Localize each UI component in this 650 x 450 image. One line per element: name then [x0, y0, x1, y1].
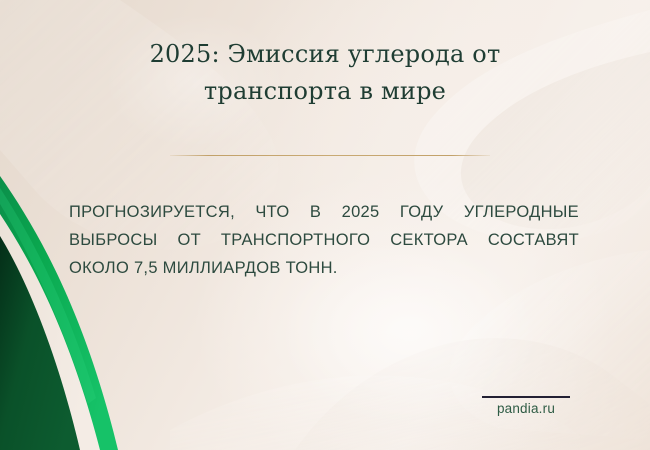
title-divider	[170, 155, 490, 156]
footer-divider	[482, 396, 570, 398]
footer-attribution: pandia.ru	[471, 396, 581, 416]
source-label: pandia.ru	[471, 401, 581, 416]
page-title: 2025: Эмиссия углерода от транспорта в м…	[75, 36, 575, 110]
slide-canvas: 2025: Эмиссия углерода от транспорта в м…	[0, 0, 650, 450]
body-paragraph: ПРОГНОЗИРУЕТСЯ, ЧТО В 2025 ГОДУ УГЛЕРОДН…	[69, 198, 579, 282]
